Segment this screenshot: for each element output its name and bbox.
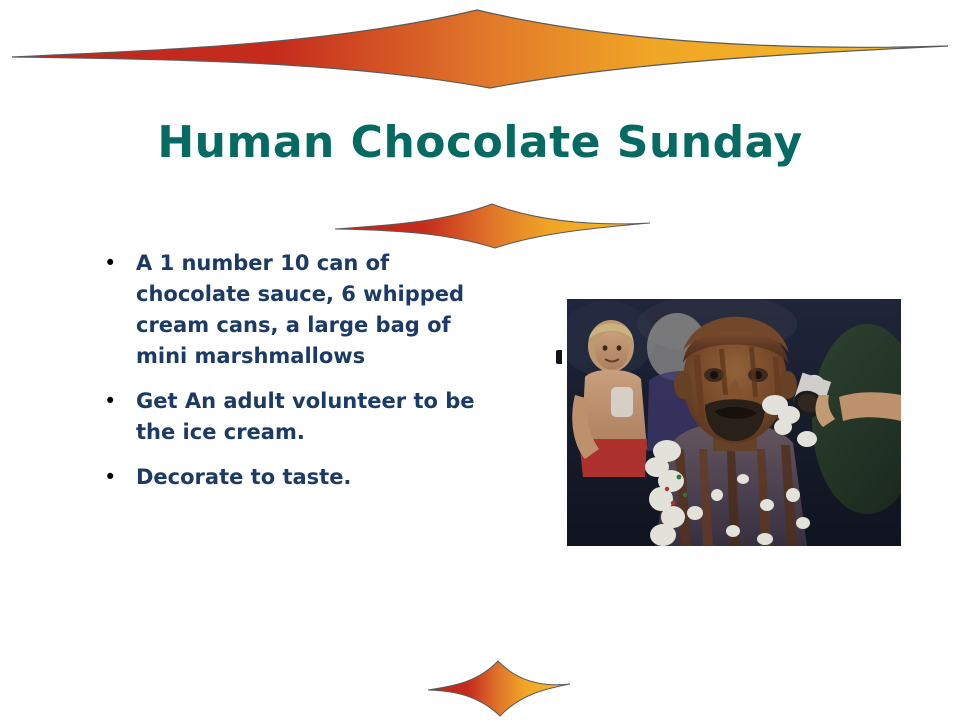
top-spindle-ornament: [12, 8, 948, 90]
bullet-point-icon: •: [96, 248, 136, 279]
photo-artwork: [567, 299, 901, 546]
list-item: • Decorate to taste.: [96, 462, 536, 493]
bullet-text: Decorate to taste.: [136, 462, 536, 493]
slide-photo: [567, 299, 901, 546]
bullet-point-icon: •: [96, 462, 136, 493]
bullet-text: A 1 number 10 can of chocolate sauce, 6 …: [136, 248, 486, 372]
middle-spindle-ornament: [335, 202, 650, 250]
list-item: • A 1 number 10 can of chocolate sauce, …: [96, 248, 536, 372]
page-title: Human Chocolate Sunday: [0, 119, 960, 167]
list-item: • Get An adult volunteer to be the ice c…: [96, 386, 536, 448]
bullet-point-icon: •: [96, 386, 136, 417]
bullet-list: • A 1 number 10 can of chocolate sauce, …: [96, 248, 536, 507]
slide: Human Chocolate Sunday • A 1 number 10 c…: [0, 0, 960, 720]
bottom-spindle-ornament: [428, 658, 570, 720]
clipped-bullet-point-icon: [556, 350, 562, 364]
bullet-text: Get An adult volunteer to be the ice cre…: [136, 386, 514, 448]
